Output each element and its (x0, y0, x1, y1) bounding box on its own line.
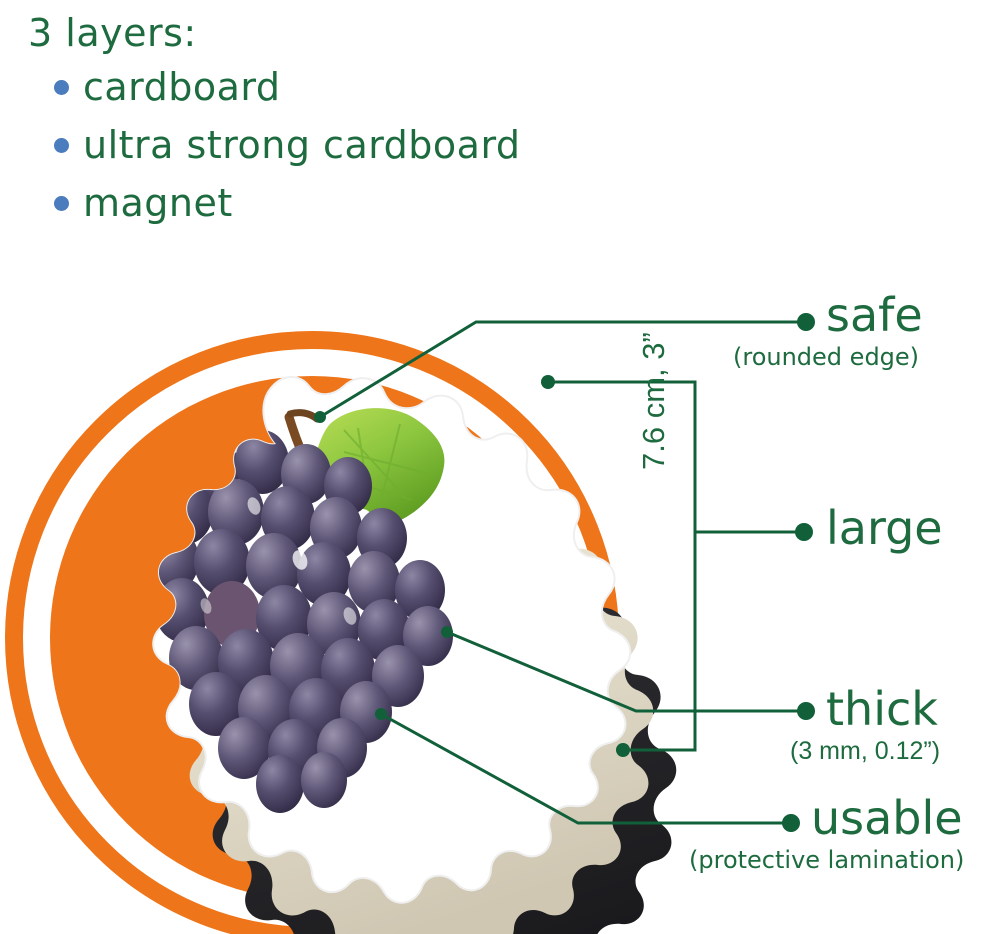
bullet-dot-icon (54, 196, 69, 211)
dot-large (795, 523, 813, 541)
layers-title: 3 layers: (28, 8, 668, 58)
callout-large: large (826, 505, 943, 551)
dot-usable (782, 814, 800, 832)
list-item: cardboard (54, 58, 668, 116)
dot-thick (797, 702, 815, 720)
layer-label: ultra strong cardboard (83, 126, 521, 164)
callout-thick-sublabel: (3 mm, 0.12”) (790, 739, 940, 764)
dot-bracket-top (541, 375, 555, 389)
dot-magnet-edge (314, 411, 326, 423)
layer-label: magnet (83, 184, 233, 222)
callout-thick: thick (3 mm, 0.12”) (826, 686, 940, 764)
list-item: magnet (54, 174, 668, 232)
bullet-dot-icon (54, 138, 69, 153)
dot-safe (797, 313, 815, 331)
bullet-dot-icon (54, 80, 69, 95)
list-item: ultra strong cardboard (54, 116, 668, 174)
layers-list: 3 layers: cardboard ultra strong cardboa… (28, 8, 668, 232)
callout-safe: safe (rounded edge) (826, 292, 923, 369)
layer-label: cardboard (83, 68, 281, 106)
dot-cardboard-edge (441, 626, 453, 638)
callout-safe-label: safe (826, 292, 923, 338)
dot-magnet-bottom (375, 708, 387, 720)
infographic-canvas: 3 layers: cardboard ultra strong cardboa… (0, 0, 983, 934)
callout-thick-label: thick (826, 686, 940, 732)
callout-safe-sublabel: (rounded edge) (733, 345, 923, 369)
callout-usable-label: usable (811, 795, 964, 841)
callout-usable-sublabel: (protective lamination) (689, 848, 964, 872)
callout-large-label: large (826, 505, 943, 551)
dimension-label: 7.6 cm, 3” (636, 332, 672, 470)
dot-bracket-bottom (616, 743, 630, 757)
callout-usable: usable (protective lamination) (811, 795, 964, 872)
